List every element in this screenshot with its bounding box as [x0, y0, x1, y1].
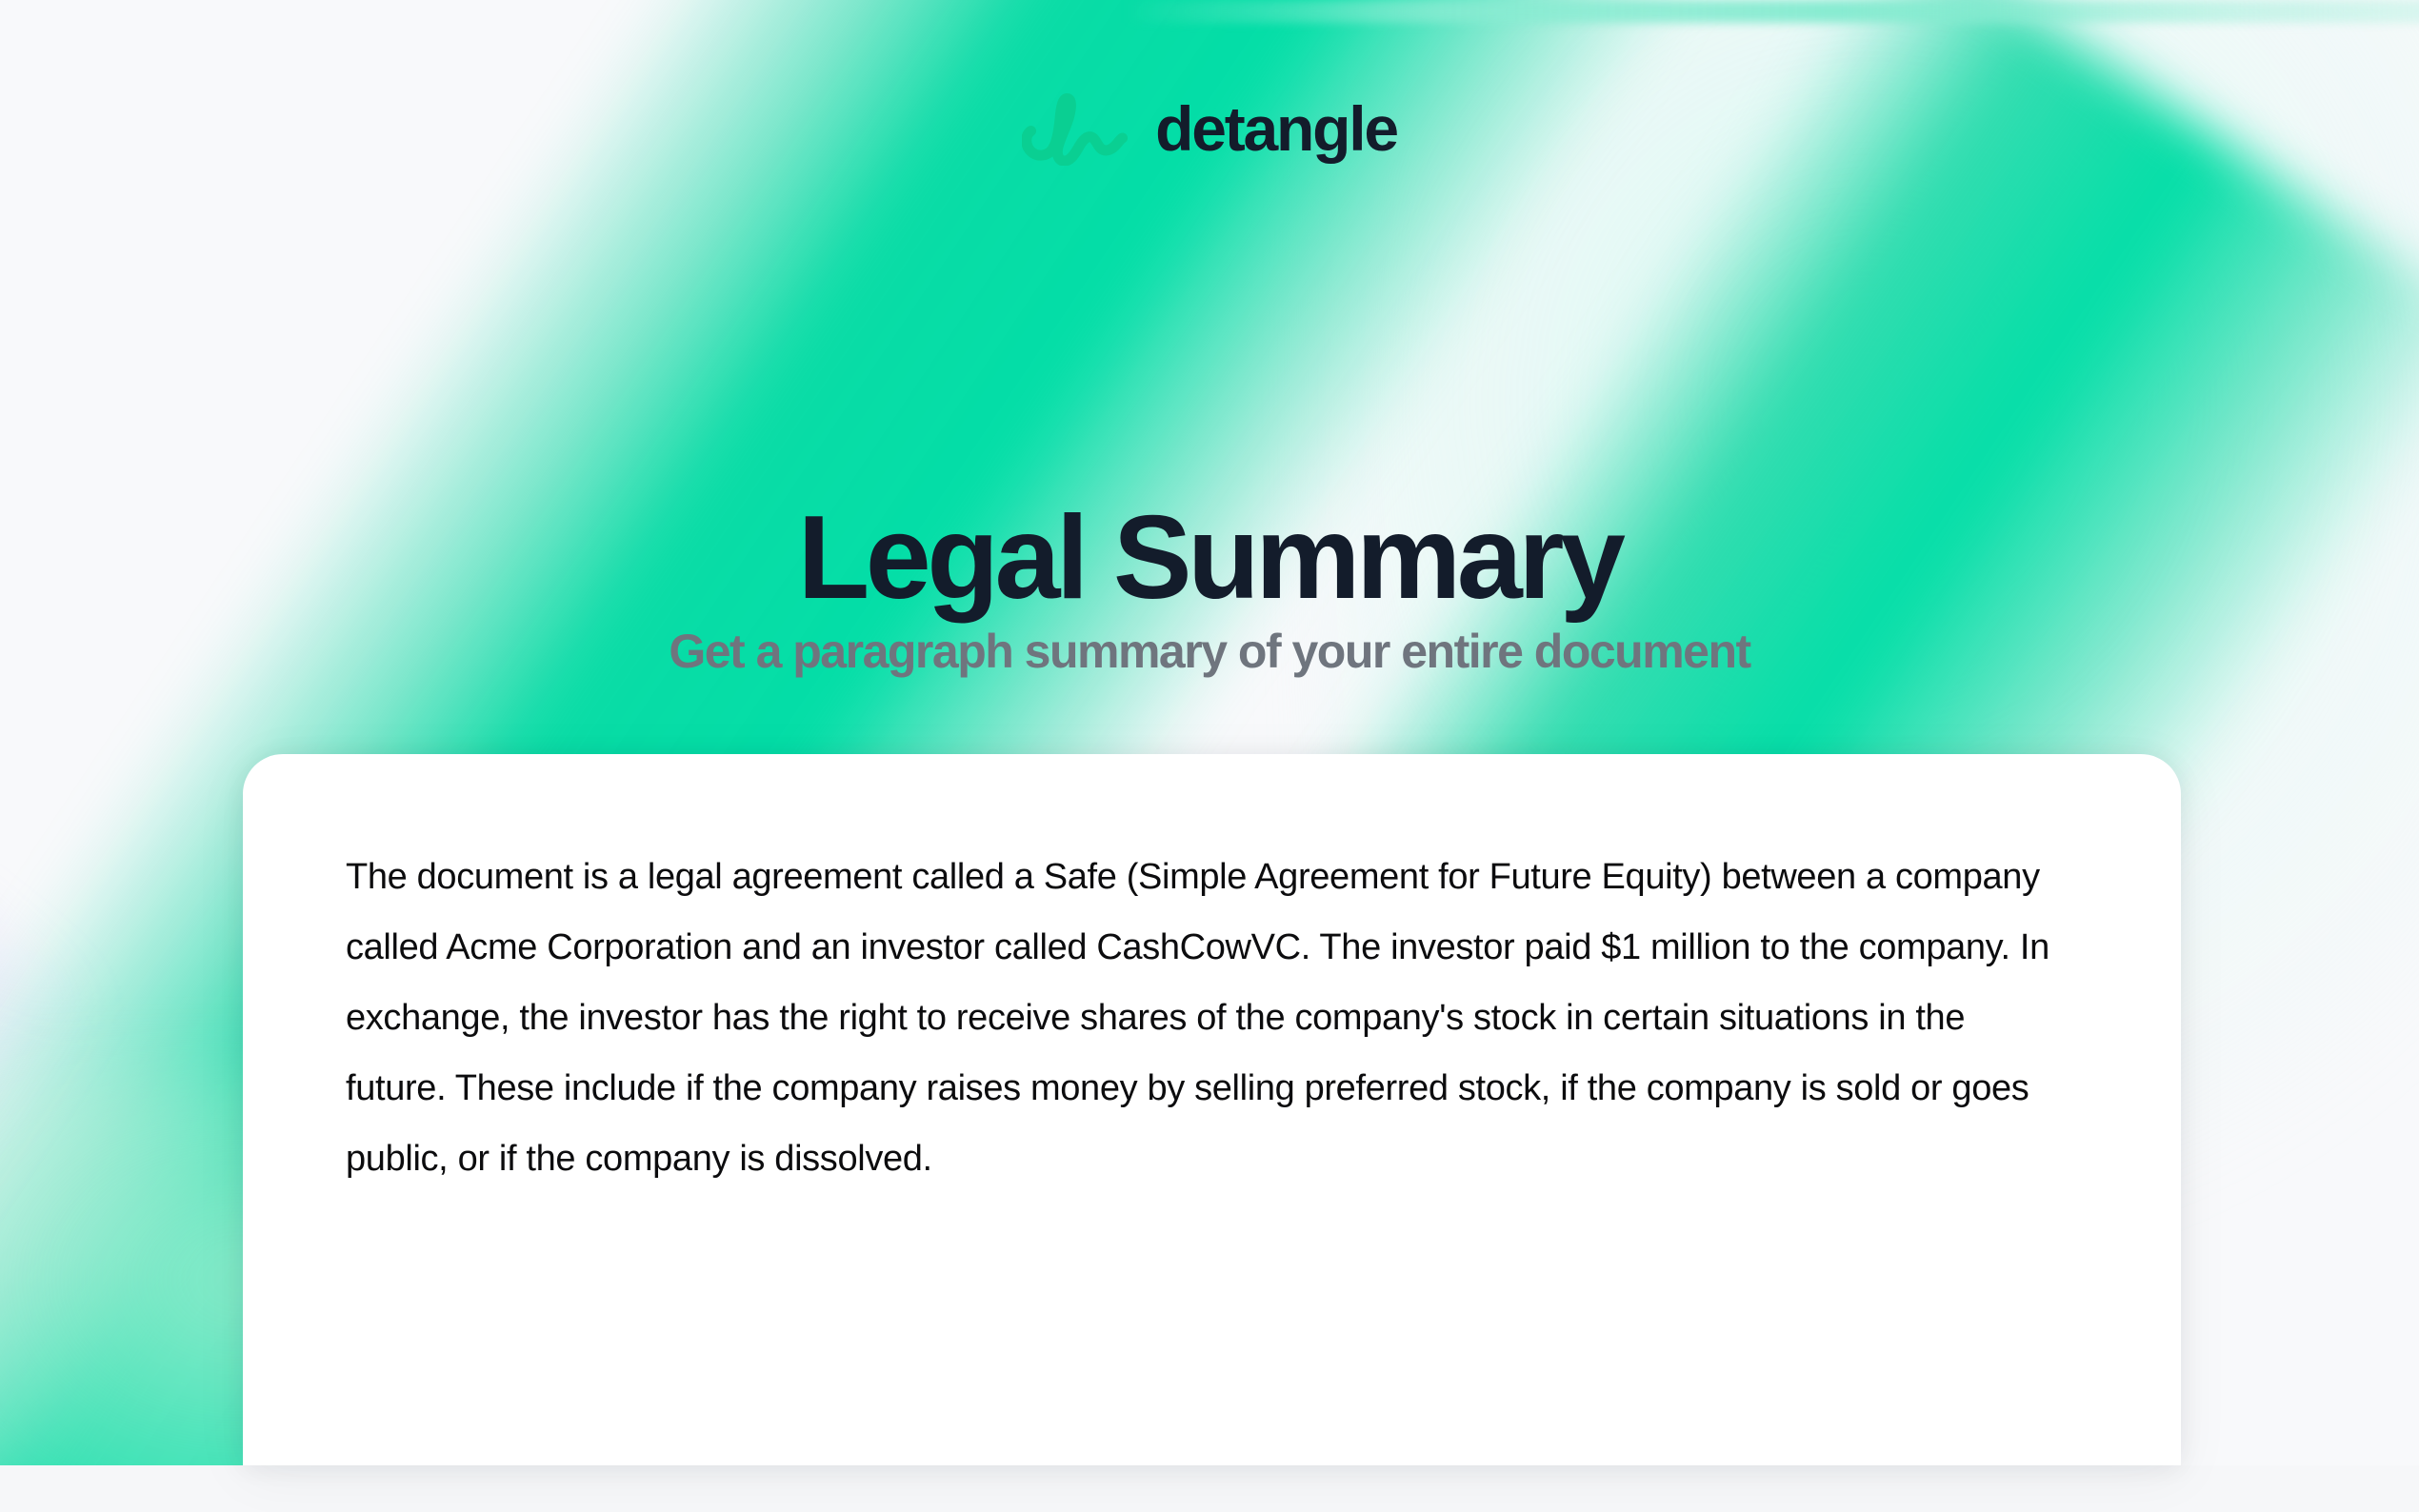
page-title: Legal Summary	[0, 495, 2419, 623]
brand-wordmark: detangle	[1155, 97, 1397, 160]
brand-lockup[interactable]: detangle	[0, 91, 2419, 166]
detangle-squiggle-icon	[1022, 91, 1129, 166]
page-root: detangle Legal Summary Get a paragraph s…	[0, 0, 2419, 1512]
summary-card: The document is a legal agreement called…	[243, 754, 2181, 1465]
page-subtitle: Get a paragraph summary of your entire d…	[0, 624, 2419, 679]
summary-body-text: The document is a legal agreement called…	[346, 842, 2069, 1194]
